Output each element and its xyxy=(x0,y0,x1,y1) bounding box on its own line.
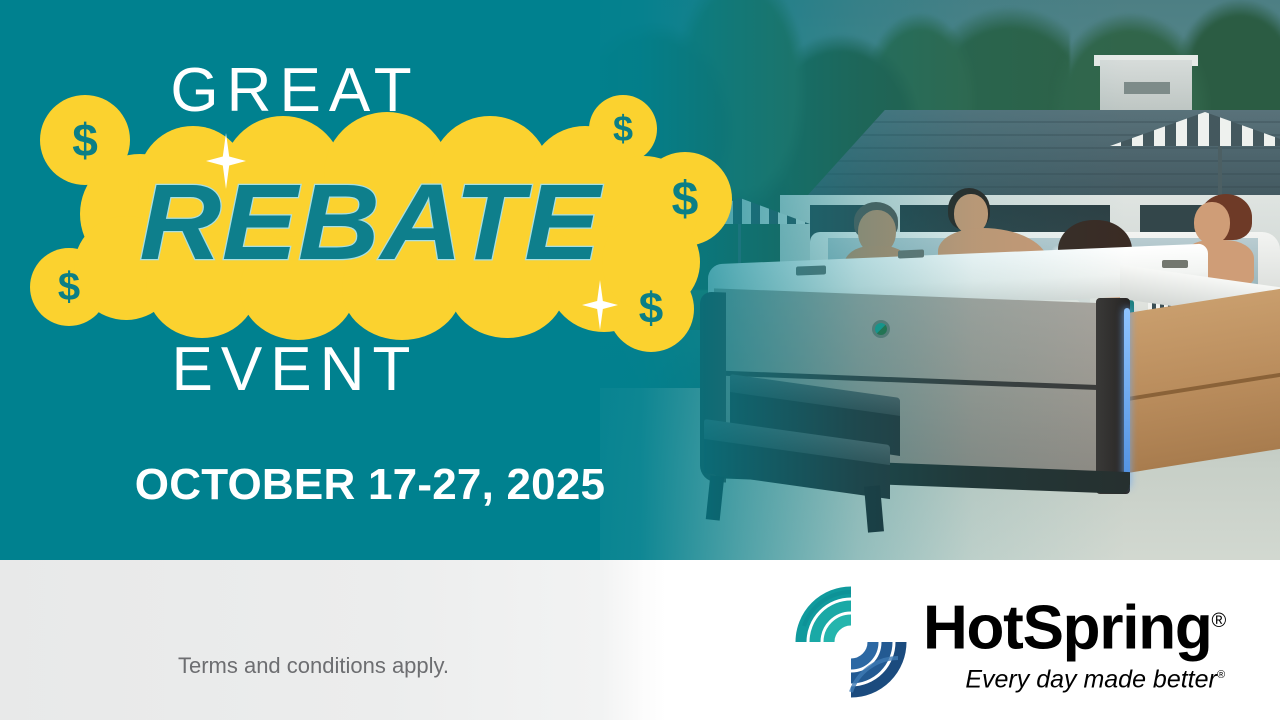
brand-name: HotSpring® xyxy=(923,590,1225,660)
brand-tagline-text: Every day made better xyxy=(965,665,1217,693)
brand-name-text: HotSpring xyxy=(923,594,1211,663)
headline-rebate: REBATE xyxy=(0,168,759,276)
dollar-sign-icon: $ xyxy=(72,113,98,167)
hotspring-wordmark: HotSpring® Every day made better® xyxy=(923,590,1225,694)
registered-mark: ® xyxy=(1211,610,1225,632)
brand-tagline: Every day made better® xyxy=(923,660,1225,694)
footer-bar: Terms and conditions apply. xyxy=(0,560,1280,720)
headline-group: GREAT $ $ $ $ $ xyxy=(0,0,740,560)
promo-date-range: OCTOBER 17-27, 2025 xyxy=(0,460,740,510)
hotspring-logo: HotSpring® Every day made better® xyxy=(795,582,1215,702)
tagline-registered-mark: ® xyxy=(1217,669,1225,681)
dollar-sign-icon: $ xyxy=(639,284,663,334)
terms-and-conditions-text: Terms and conditions apply. xyxy=(0,560,627,720)
headline-event: EVENT xyxy=(0,339,665,401)
dollar-sign-icon: $ xyxy=(672,172,699,227)
hotspring-swirl-icon xyxy=(795,586,907,698)
hero-section: GREAT $ $ $ $ $ xyxy=(0,0,1280,560)
dollar-sign-icon: $ xyxy=(613,108,633,150)
promotional-banner: GREAT $ $ $ $ $ xyxy=(0,0,1280,720)
dollar-sign-icon: $ xyxy=(58,265,80,310)
